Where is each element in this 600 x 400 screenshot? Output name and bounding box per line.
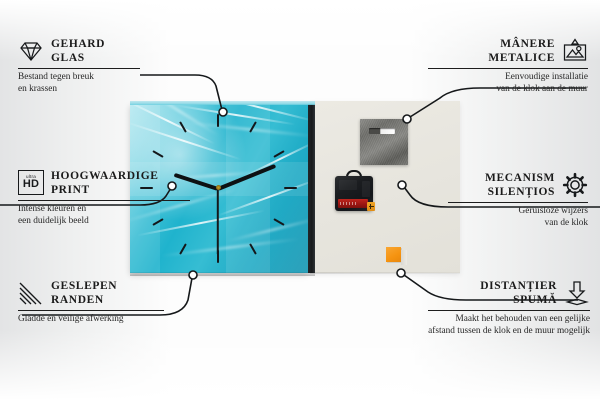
mechanism-body	[335, 176, 373, 211]
tick-mark	[284, 187, 297, 189]
foam-spacer	[386, 247, 401, 262]
clock-mechanism	[335, 171, 373, 211]
tick-mark	[217, 114, 219, 127]
callout-title: GESLEPEN RANDEN	[51, 280, 117, 307]
callout-header: ultra HD HOOGWAARDIGE PRINT	[18, 170, 140, 197]
hanger-slot	[369, 128, 395, 134]
callout-title: MECANISM SILENȚIOS	[448, 172, 555, 199]
callout-header: GESLEPEN RANDEN	[18, 280, 168, 307]
callout-title: HOOGWAARDIGE PRINT	[51, 170, 159, 197]
gear-icon	[562, 172, 588, 198]
clock-glass-edge	[308, 104, 315, 273]
battery-positive-terminal	[367, 202, 375, 211]
callout-title: DISTANȚIER SPUMĂ	[428, 280, 557, 307]
callout-geslepen-randen[interactable]: GESLEPEN RANDEN Gladde en veilige afwerk…	[18, 280, 168, 326]
beveled-edge-icon	[18, 280, 44, 306]
callout-description-line1: Bestand tegen breuk	[18, 72, 140, 84]
battery-label	[340, 202, 358, 205]
callout-rule	[448, 202, 588, 203]
product-image	[130, 101, 460, 279]
callout-description-line1: Intense kleuren en	[18, 204, 140, 216]
foam-spacer-side-face	[401, 250, 407, 265]
hanging-picture-icon	[562, 38, 588, 64]
callout-rule	[18, 200, 190, 201]
callout-description-line1: Eenvoudige installatie	[428, 72, 588, 84]
clock-center-pin	[216, 185, 221, 190]
callout-description-line2: en krassen	[18, 84, 140, 96]
callout-description-line1: Maakt het behouden van een gelijke	[428, 314, 590, 326]
callout-rule	[18, 310, 164, 311]
clock-back-panel-shadow	[310, 272, 460, 274]
metal-hanger-plate	[360, 119, 408, 165]
callout-description-line2: van de klok aan de muur	[428, 84, 588, 96]
callout-distantier-spuma[interactable]: DISTANȚIER SPUMĂ Maakt het behouden van …	[428, 280, 590, 326]
callout-rule	[18, 68, 140, 69]
background-bottom-highlight	[0, 330, 600, 400]
ultra-hd-icon-large-text: HD	[23, 179, 39, 190]
callout-description-line1: Gladde en veilige afwerking	[18, 314, 168, 326]
callout-rule	[428, 310, 590, 311]
ultra-hd-icon: ultra HD	[18, 170, 44, 195]
callout-header: GEHARD GLAS	[18, 38, 140, 65]
callout-gehard-glas[interactable]: GEHARD GLAS Bestand tegen breuk en krass…	[18, 38, 140, 95]
callout-description-line2: van de klok	[448, 218, 588, 230]
clock-bottom-shadow	[130, 272, 315, 276]
callout-description-line2: een duidelijk beeld	[18, 216, 140, 228]
callout-manere-metalice[interactable]: MÂNERE METALICE Eenvoudige installatie v…	[428, 38, 588, 95]
callout-description-line1: Geruisloze wijzers	[448, 206, 588, 218]
diamond-icon	[18, 38, 44, 64]
infographic-canvas: GEHARD GLAS Bestand tegen breuk en krass…	[0, 0, 600, 400]
aa-battery	[338, 199, 368, 208]
callout-description-line2: afstand tussen de klok en de muur mogeli…	[375, 326, 590, 338]
callout-title: GEHARD GLAS	[51, 38, 105, 65]
callout-header: MÂNERE METALICE	[428, 38, 588, 65]
clock-top-edge	[130, 101, 315, 105]
callout-mecanism-silentios[interactable]: MECANISM SILENȚIOS Geruisloze wijzers va…	[448, 172, 588, 229]
callout-header: DISTANȚIER SPUMĂ	[428, 280, 590, 307]
callout-rule	[428, 68, 588, 69]
callout-hoogwaardige-print[interactable]: ultra HD HOOGWAARDIGE PRINT Intense kleu…	[18, 170, 140, 227]
callout-title: MÂNERE METALICE	[428, 38, 555, 65]
spacer-arrow-icon	[564, 280, 590, 306]
callout-header: MECANISM SILENȚIOS	[448, 172, 588, 199]
clock-second-hand	[217, 189, 219, 255]
